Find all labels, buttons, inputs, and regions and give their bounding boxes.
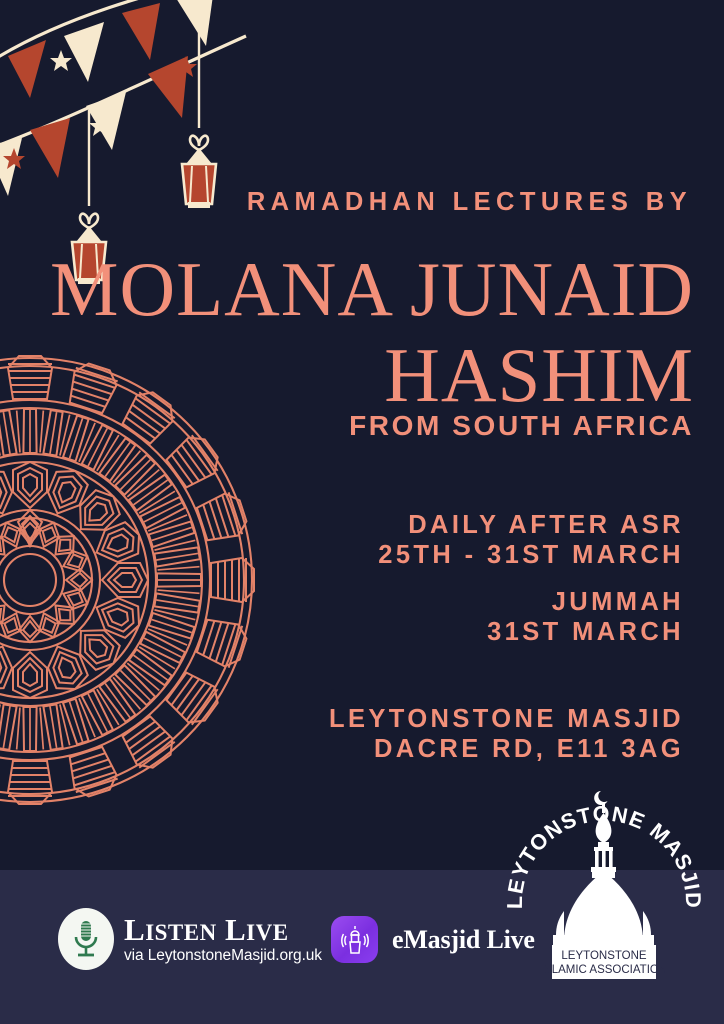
jummah-schedule-block: JUMMAH 31ST MARCH <box>0 588 684 647</box>
listen-live-logo[interactable]: LISTEN LIVE via LeytonstoneMasjid.org.uk <box>58 908 322 970</box>
listen-live-word2-rest: IVE <box>246 920 288 945</box>
venue-address: DACRE RD, E11 3AG <box>0 735 684 765</box>
listen-live-title: LISTEN LIVE <box>124 914 322 945</box>
masjid-logo-plaque-line2: ISLAMIC ASSOCIATION <box>541 964 667 976</box>
venue-name: LEYTONSTONE MASJID <box>0 705 684 735</box>
mosque-dome-icon: LEYTONSTONE MASJID LEYTONSTONE ISLAMIC A… <box>506 785 702 995</box>
speaker-origin: FROM SOUTH AFRICA <box>0 410 694 442</box>
listen-live-word1-cap: L <box>124 912 145 947</box>
daily-schedule-block: DAILY AFTER ASR 25TH - 31ST MARCH <box>0 511 684 570</box>
daily-schedule-dates: 25TH - 31ST MARCH <box>0 541 684 571</box>
jummah-schedule-title: JUMMAH <box>0 588 684 618</box>
leytonstone-masjid-logo: LEYTONSTONE MASJID LEYTONSTONE ISLAMIC A… <box>506 785 702 995</box>
speaker-name-line-1: MOLANA JUNAID <box>0 251 694 328</box>
speaker-name-line-2: HASHIM <box>0 337 694 414</box>
listen-live-word1-rest: ISTEN <box>145 920 217 945</box>
venue-block: LEYTONSTONE MASJID DACRE RD, E11 3AG <box>0 705 684 764</box>
poster-content: RAMADHAN LECTURES BY MOLANA JUNAID HASHI… <box>0 0 724 870</box>
jummah-schedule-dates: 31ST MARCH <box>0 618 684 648</box>
masjid-logo-plaque-line1: LEYTONSTONE <box>561 950 647 962</box>
daily-schedule-title: DAILY AFTER ASR <box>0 511 684 541</box>
ramadhan-lecture-poster: RAMADHAN LECTURES BY MOLANA JUNAID HASHI… <box>0 0 724 1024</box>
listen-live-subtitle: via LeytonstoneMasjid.org.uk <box>124 948 322 964</box>
emasjid-live-logo[interactable]: eMasjid Live <box>331 916 535 963</box>
microphone-icon <box>58 908 114 970</box>
listen-live-word2-cap: L <box>225 912 246 947</box>
minaret-broadcast-icon <box>331 916 378 963</box>
kicker-text: RAMADHAN LECTURES BY <box>0 188 692 217</box>
